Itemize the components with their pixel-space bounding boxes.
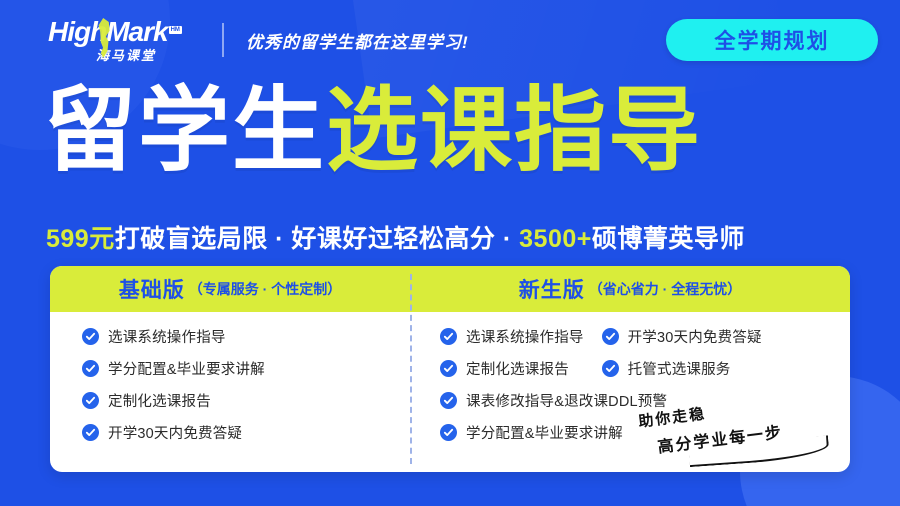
list-item: 选课系统操作指导 <box>440 326 584 347</box>
plans-column-divider <box>410 274 412 464</box>
subtitle-mentor-count: 3500+ <box>519 225 592 253</box>
check-circle-icon <box>440 392 457 409</box>
headline-part-white: 留学生 <box>44 80 326 182</box>
list-item-label: 选课系统操作指导 <box>466 326 584 347</box>
list-item-label: 学分配置&毕业要求讲解 <box>466 422 623 443</box>
brand-logo[interactable]: HighMarkHM 海马课堂 <box>48 14 196 66</box>
brand-registered-badge: HM <box>169 26 182 34</box>
list-item: 定制化选课报告 <box>82 390 410 411</box>
list-item-label: 开学30天内免费答疑 <box>108 422 242 443</box>
plan-basic-feature-list: 选课系统操作指导 学分配置&毕业要求讲解 定制化 <box>50 326 410 443</box>
brand-wordmark: HighMarkHM <box>48 18 196 46</box>
semester-plan-badge-label: 全学期规划 <box>715 25 830 55</box>
list-item: 学分配置&毕业要求讲解 <box>82 358 410 379</box>
brand-sub-name: 海马课堂 <box>96 49 196 62</box>
plan-column-basic[interactable]: 基础版 （专属服务 · 个性定制） 选课系统操作指导 <box>50 266 410 472</box>
plan-freshman-name: 新生版 <box>519 274 585 304</box>
plan-basic-desc: （专属服务 · 个性定制） <box>189 279 341 299</box>
check-circle-icon <box>82 328 99 345</box>
list-item: 开学30天内免费答疑 <box>82 422 410 443</box>
list-item: 学分配置&毕业要求讲解 <box>440 422 762 443</box>
promo-banner: HighMarkHM 海马课堂 优秀的留学生都在这里学习! 全学期规划 留学生选… <box>0 0 900 506</box>
list-item-label: 定制化选课报告 <box>466 358 569 379</box>
subtitle-price: 599元 <box>46 225 115 253</box>
check-circle-icon <box>602 328 619 345</box>
check-circle-icon <box>602 360 619 377</box>
list-item-label: 课表修改指导&退改课DDL预警 <box>466 390 667 411</box>
subtitle-text-b: 硕博菁英导师 <box>592 225 745 253</box>
plan-freshman-feature-list: 选课系统操作指导 开学30天内免费答疑 定制化选 <box>410 326 850 443</box>
plan-freshman-title: 新生版 （省心省力 · 全程无忧） <box>410 266 850 312</box>
subtitle-text-a: 打破盲选局限 · 好课好过轻松高分 · <box>115 225 519 253</box>
check-circle-icon <box>82 392 99 409</box>
check-circle-icon <box>82 424 99 441</box>
list-item-label: 托管式选课服务 <box>628 358 731 379</box>
list-item: 开学30天内免费答疑 <box>602 326 762 347</box>
banner-header: HighMarkHM 海马课堂 优秀的留学生都在这里学习! 全学期规划 <box>0 0 900 80</box>
plan-column-freshman[interactable]: 新生版 （省心省力 · 全程无忧） 选课系统操作指导 <box>410 266 850 472</box>
check-circle-icon <box>440 328 457 345</box>
list-item-label: 开学30天内免费答疑 <box>628 326 762 347</box>
plan-freshman-desc: （省心省力 · 全程无忧） <box>589 279 741 299</box>
plans-card: 基础版 （专属服务 · 个性定制） 选课系统操作指导 <box>50 266 850 472</box>
brand-tagline: 优秀的留学生都在这里学习! <box>246 28 469 53</box>
check-circle-icon <box>82 360 99 377</box>
page-title: 留学生选课指导 <box>44 84 702 180</box>
plan-basic-name: 基础版 <box>119 274 185 304</box>
page-subtitle: 599元打破盲选局限 · 好课好过轻松高分 · 3500+硕博菁英导师 <box>46 219 745 255</box>
list-item: 托管式选课服务 <box>602 358 762 379</box>
list-item: 选课系统操作指导 <box>82 326 410 347</box>
list-item-label: 学分配置&毕业要求讲解 <box>108 358 265 379</box>
list-item-label: 定制化选课报告 <box>108 390 211 411</box>
check-circle-icon <box>440 424 457 441</box>
headline-part-lime: 选课指导 <box>326 80 702 182</box>
semester-plan-badge[interactable]: 全学期规划 <box>666 19 878 61</box>
list-item: 课表修改指导&退改课DDL预警 <box>440 390 762 411</box>
header-divider <box>222 23 224 57</box>
plan-basic-title: 基础版 （专属服务 · 个性定制） <box>50 266 410 312</box>
list-item-label: 选课系统操作指导 <box>108 326 226 347</box>
check-circle-icon <box>440 360 457 377</box>
list-item: 定制化选课报告 <box>440 358 584 379</box>
